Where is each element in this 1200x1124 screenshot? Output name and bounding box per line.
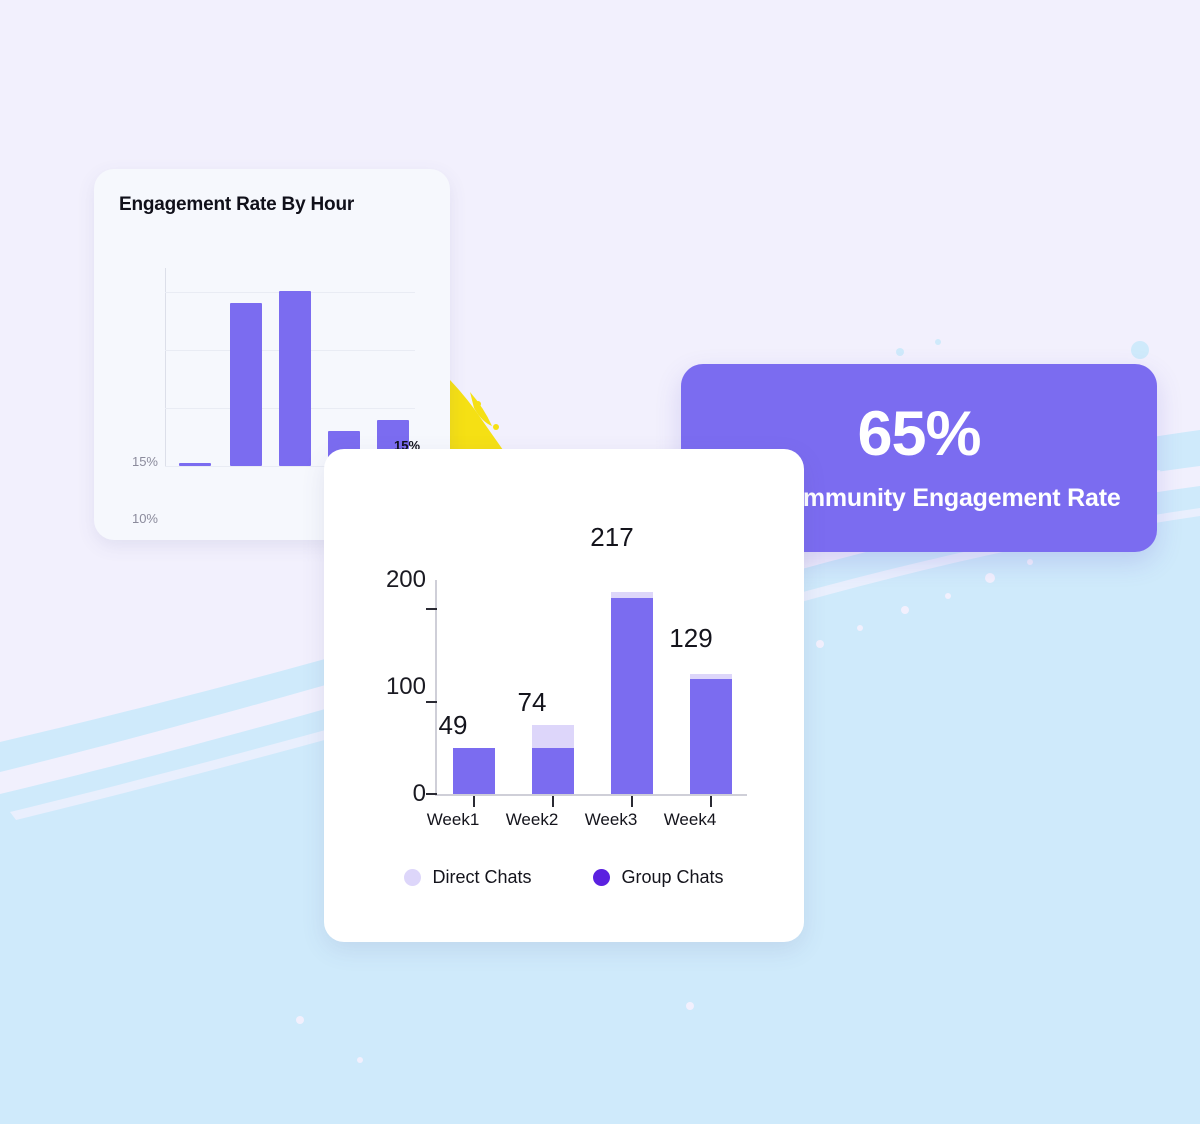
chart1-plot-area: [165, 268, 415, 466]
chart2-xtick-label-week1: Week1: [413, 810, 493, 830]
chart2-legend-item-direct-chats[interactable]: Direct Chats: [404, 867, 531, 888]
chart2-bar-week4[interactable]: [690, 674, 732, 794]
chart2-plot-area: [435, 580, 747, 794]
chart2-legend-label-direct-chats: Direct Chats: [432, 867, 531, 888]
chart2-legend: Direct Chats Group Chats: [324, 867, 804, 888]
chart1-y-axis: [165, 268, 166, 466]
chart1-ytick-label-15: 15%: [114, 454, 158, 469]
chart2-ytick-mark-0: [426, 793, 437, 795]
weekly-chats-card: 0 100 200 49 74 217: [324, 449, 804, 942]
chart2-seg-group-week2: [532, 748, 574, 794]
chart2-ytick-label-200: 200: [368, 566, 426, 594]
chart2-x-axis: [435, 794, 747, 796]
chart2-ytick-label-100: 100: [368, 673, 426, 701]
chart2-seg-group-week3: [611, 598, 653, 794]
chart2-bar-week1[interactable]: [453, 748, 495, 794]
chart2-legend-label-group-chats: Group Chats: [621, 867, 723, 888]
chart2-value-label-week2: 74: [502, 687, 562, 718]
chart2-y-axis: [435, 580, 437, 794]
chart2-legend-item-group-chats[interactable]: Group Chats: [593, 867, 723, 888]
chart2-xtick-mark-week1: [473, 796, 475, 807]
chart2-seg-group-week1: [453, 748, 495, 794]
kpi-value: 65%: [857, 403, 980, 466]
chart2-value-label-week4: 129: [655, 623, 727, 654]
chart2-xtick-label-week2: Week2: [492, 810, 572, 830]
chart1-ytick-label-10: 10%: [114, 511, 158, 526]
legend-dot-icon-group-chats: [593, 869, 610, 886]
chart2-xtick-label-week4: Week4: [650, 810, 730, 830]
chart2-xtick-label-week3: Week3: [571, 810, 651, 830]
chart1-bar-11am[interactable]: [230, 303, 262, 466]
chart2-seg-direct-week2: [532, 725, 574, 748]
chart2-xtick-mark-week4: [710, 796, 712, 807]
page-title: Engagement Rate By Hour: [119, 194, 354, 216]
chart2-ytick-mark-200: [426, 608, 437, 610]
chart2-bar-week3[interactable]: [611, 592, 653, 794]
legend-dot-icon-direct-chats: [404, 869, 421, 886]
chart2-xtick-mark-week2: [552, 796, 554, 807]
chart2-value-label-week1: 49: [423, 710, 483, 741]
chart2-seg-group-week4: [690, 679, 732, 794]
chart1-bar-12pm[interactable]: [279, 291, 311, 466]
chart2-value-label-week3: 217: [576, 522, 648, 553]
chart2-bar-week2[interactable]: [532, 725, 574, 794]
chart2-ytick-label-0: 0: [368, 780, 426, 808]
chart2-xtick-mark-week3: [631, 796, 633, 807]
chart2-ytick-mark-100: [426, 701, 437, 703]
chart1-bar-10am[interactable]: [179, 463, 211, 466]
